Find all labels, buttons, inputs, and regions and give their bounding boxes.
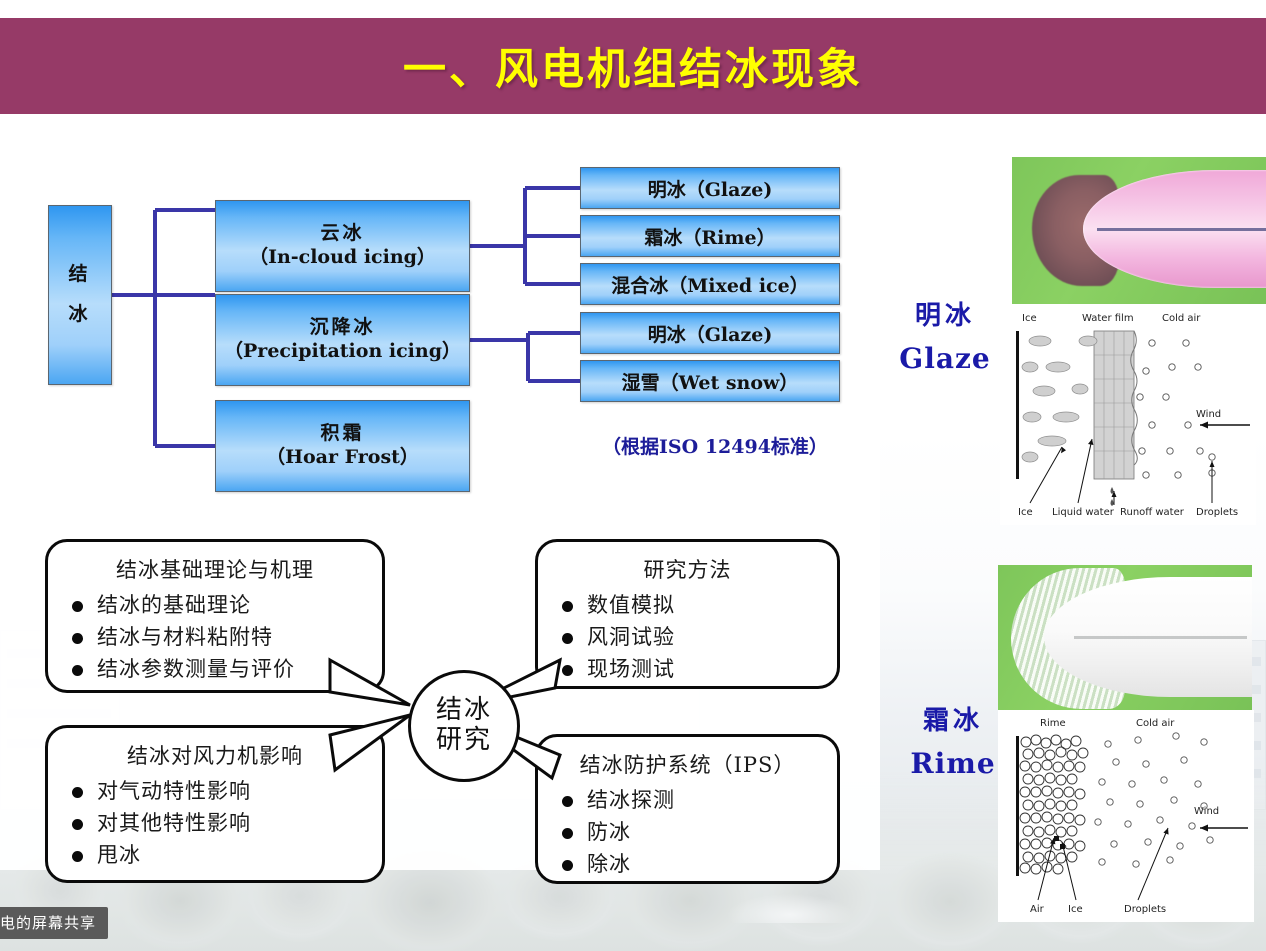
schematic-label-ice: Ice [1022, 313, 1037, 324]
diagram-box-in-cloud-icing: 云冰 （In-cloud icing） [215, 200, 470, 292]
schematic-label-runoff-water: Runoff water [1120, 507, 1185, 518]
glaze-label-en: Glaze [885, 342, 1005, 375]
schematic-label-wind: Wind [1196, 409, 1221, 420]
glaze-label: 明冰 Glaze [885, 295, 1005, 375]
center-label-line2: 研究 [436, 726, 492, 756]
center-label-line1: 结冰 [436, 696, 492, 726]
box-label: 霜冰（Rime） [644, 223, 775, 250]
page-title: 一、风电机组结冰现象 [403, 35, 863, 97]
box-label: 明冰（Glaze) [648, 175, 773, 202]
schematic-label-cold-air: Cold air [1162, 313, 1201, 324]
diagram-box-rime: 霜冰（Rime） [580, 215, 840, 257]
schematic-label-water-film: Water film [1082, 313, 1134, 324]
diagram-box-glaze-incloud: 明冰（Glaze) [580, 167, 840, 209]
rime-label-en: Rime [893, 747, 1013, 780]
box-label: 明冰（Glaze) [648, 320, 773, 347]
screen-share-indicator: 电的屏幕共享 [0, 907, 108, 939]
airfoil-chord-line [1074, 636, 1247, 639]
diagram-box-precipitation-icing: 沉降冰 （Precipitation icing） [215, 294, 470, 386]
box-label-cn: 积霜 [320, 422, 364, 446]
schematic-label-droplets: Droplets [1196, 507, 1238, 518]
diagram-box-mixed-ice: 混合冰（Mixed ice） [580, 263, 840, 305]
box-label-en: （In-cloud icing） [249, 246, 436, 270]
schematic-label-rime: Rime [1040, 718, 1066, 729]
schematic-label-cold-air: Cold air [1136, 718, 1175, 729]
box-label-cn: 云冰 [320, 222, 364, 246]
research-center-node: 结冰 研究 [408, 670, 520, 782]
box-label-cn: 沉降冰 [309, 316, 375, 340]
diagram-box-glaze-precip: 明冰（Glaze) [580, 312, 840, 354]
box-label-en: （Precipitation icing） [224, 340, 461, 364]
rime-label-cn: 霜冰 [893, 700, 1013, 737]
slide-title-banner: 一、风电机组结冰现象 [0, 18, 1266, 114]
schematic-label-ice-bottom: Ice [1018, 507, 1033, 518]
box-label: 湿雪（Wet snow） [622, 368, 799, 395]
box-label: 混合冰（Mixed ice） [611, 271, 808, 298]
glaze-label-cn: 明冰 [885, 295, 1005, 332]
schematic-label-air: Air [1030, 904, 1045, 915]
schematic-label-liquid-water: Liquid water [1052, 507, 1115, 518]
glaze-photo [1012, 157, 1266, 304]
rime-label: 霜冰 Rime [893, 700, 1013, 780]
root-label-line2: 冰 [68, 295, 91, 335]
diagram-box-wet-snow: 湿雪（Wet snow） [580, 360, 840, 402]
schematic-label-droplets: Droplets [1124, 904, 1166, 915]
glaze-schematic-diagram: Ice Water film Cold air Wind Ice Liquid … [1000, 305, 1256, 525]
schematic-label-ice: Ice [1068, 904, 1083, 915]
diagram-box-hoar-frost: 积霜 （Hoar Frost） [215, 400, 470, 492]
icing-classification-diagram: 结 冰 云冰 （In-cloud icing） 沉降冰 （Precipitati… [0, 120, 890, 520]
rime-photo [998, 565, 1252, 712]
box-label-en: （Hoar Frost） [266, 446, 419, 470]
iso-standard-note: （根据ISO 12494标准） [565, 432, 865, 459]
diagram-root-box: 结 冰 [48, 205, 112, 385]
rime-schematic-diagram: Rime Cold air Wind Air Ice Droplets [998, 710, 1254, 922]
root-label-line1: 结 [68, 255, 91, 295]
